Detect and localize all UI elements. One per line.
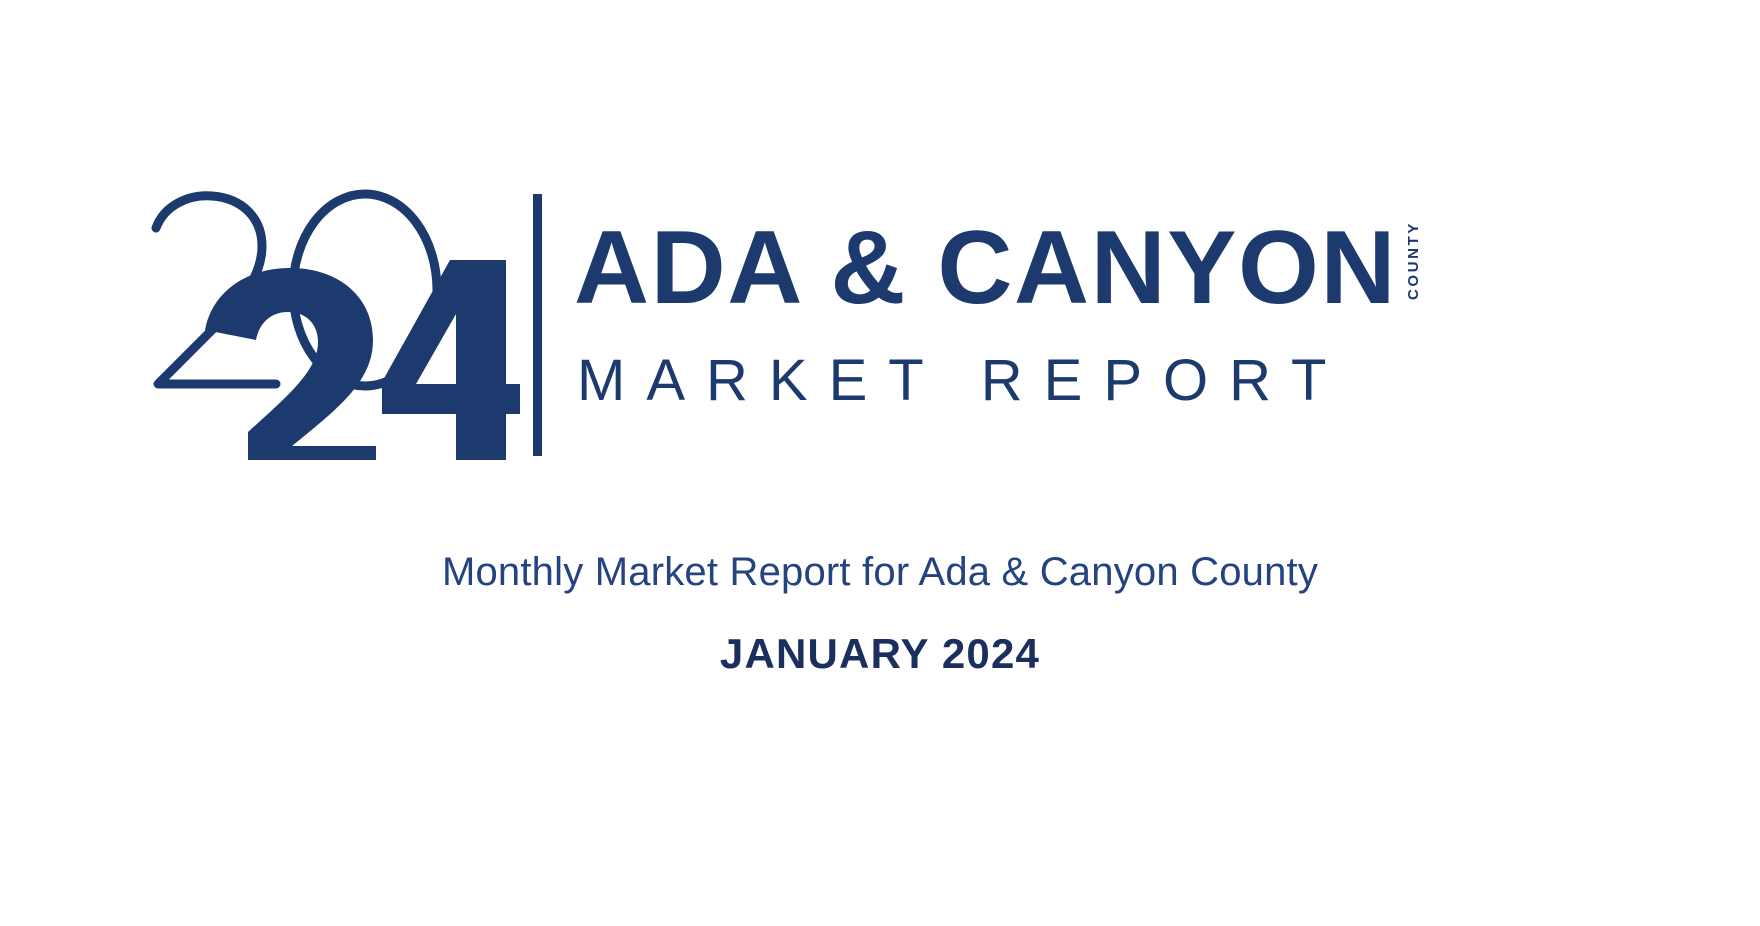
report-date: JANUARY 2024	[0, 629, 1760, 679]
year-solid-24	[205, 260, 520, 460]
logo-divider	[533, 194, 542, 456]
wordmark-title-row: ADA & CANYON COUNTY	[574, 216, 1421, 328]
wordmark-county-superscript: COUNTY	[1406, 222, 1421, 300]
report-subtitle: Monthly Market Report for Ada & Canyon C…	[0, 548, 1760, 596]
brand-logo-lockup: ADA & CANYON COUNTY MARKET REPORT	[150, 188, 1570, 460]
wordmark: ADA & CANYON COUNTY MARKET REPORT	[574, 188, 1570, 460]
wordmark-title: ADA & CANYON	[574, 216, 1397, 320]
year-2024-mark	[150, 188, 520, 460]
report-cover-page: ADA & CANYON COUNTY MARKET REPORT Monthl…	[0, 0, 1760, 926]
caption-block: Monthly Market Report for Ada & Canyon C…	[0, 548, 1760, 679]
wordmark-subtitle: MARKET REPORT	[577, 352, 1347, 410]
